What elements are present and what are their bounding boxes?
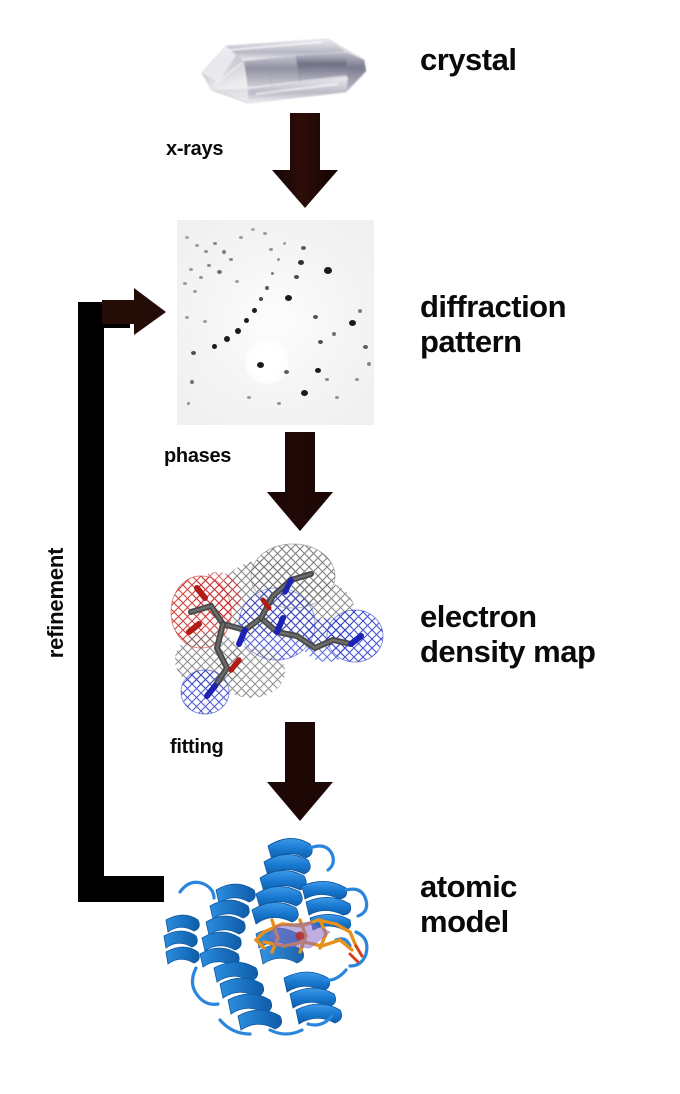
electron-density-mesh [165,540,387,718]
refinement-loop-arrow [60,290,170,920]
stage-label-crystal: crystal [420,43,516,78]
stage-label-atomic-model: atomic model [420,870,517,939]
stage-label-electron-density-map: electron density map [420,600,595,669]
crystal-photo [196,30,374,112]
refinement-arrowhead [102,288,168,336]
transition-label-x-rays: x-rays [166,138,223,161]
arrow-x-rays [270,113,340,209]
beamstop-glow [245,340,289,384]
transition-label-fitting: fitting [170,736,223,759]
diffraction-image [177,220,374,425]
workflow-diagram: crystal x-rays [0,0,680,1094]
protein-ribbon [160,828,422,1040]
feedback-loop-label: refinement [43,538,69,668]
arrow-phases [265,432,335,532]
stage-label-diffraction-pattern: diffraction pattern [420,290,566,359]
arrow-fitting [265,722,335,822]
transition-label-phases: phases [164,445,231,468]
